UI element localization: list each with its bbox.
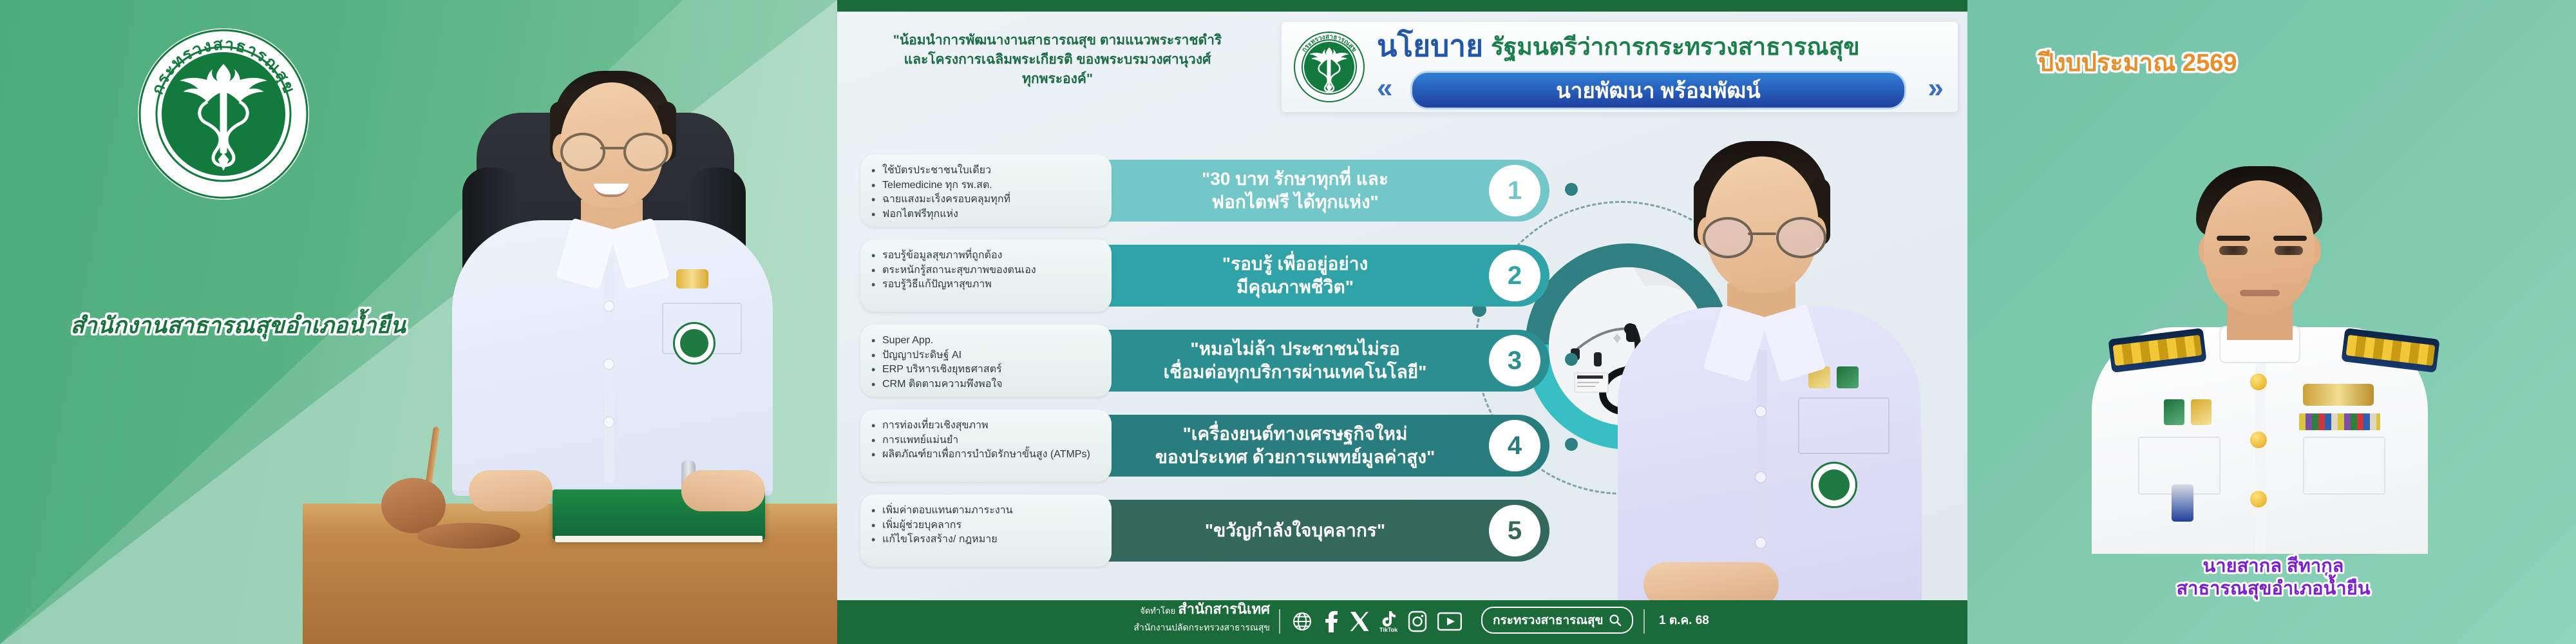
hand-right bbox=[681, 470, 765, 511]
x-twitter-icon[interactable] bbox=[1350, 611, 1369, 632]
footer-divider bbox=[1279, 609, 1280, 634]
chevron-left-icon: « bbox=[1377, 73, 1392, 103]
policy-poster: "น้อมนำการพัฒนางานสาธารณสุข ตามแนวพระราช… bbox=[837, 0, 1967, 644]
connector-node bbox=[1565, 438, 1578, 451]
eyeglasses-icon bbox=[1700, 217, 1826, 253]
policy-number-badge: 4 bbox=[1489, 420, 1540, 471]
publish-date: 1 ต.ค. 68 bbox=[1659, 611, 1709, 630]
tiktok-label: TikTok bbox=[1379, 627, 1397, 633]
policy-bullets-box: Super App. ปัญญาประดิษฐ์ AI ERP บริหารเช… bbox=[860, 325, 1112, 397]
policy-bullet: Telemedicine ทุก รพ.สต. bbox=[882, 178, 1104, 193]
officer-photo bbox=[2067, 97, 2460, 554]
policy-bullet: ผลิตภัณฑ์ยาเพื่อการบำบัดรักษาขั้นสูง (AT… bbox=[882, 448, 1104, 462]
policy-bullet: การท่องเที่ยวเชิงสุขภาพ bbox=[882, 419, 1104, 433]
produced-by-prefix: จัดทำโดย bbox=[1140, 606, 1175, 616]
minister-name-row: « นายพัฒนา พร้อมพัฒน์ » bbox=[1377, 71, 1944, 107]
policy-number-badge: 1 bbox=[1489, 165, 1540, 216]
footer-divider-2 bbox=[1643, 609, 1645, 634]
youtube-icon[interactable] bbox=[1437, 612, 1462, 631]
policy-number: 1 bbox=[1508, 176, 1522, 205]
policy-number: 4 bbox=[1508, 431, 1522, 460]
shirt-button bbox=[1756, 406, 1766, 417]
policy-row: "ขวัญกำลังใจบุคลากร" 5 เพิ่มค่าตอบแทนตาม… bbox=[860, 495, 1549, 567]
hand-left bbox=[469, 470, 553, 511]
service-ribbons bbox=[2299, 413, 2380, 430]
shirt-button bbox=[604, 301, 614, 311]
shirt-pocket bbox=[1798, 397, 1889, 454]
fiscal-year-label: ปีงบประมาณ 2569 bbox=[2038, 43, 2425, 82]
tiktok-icon[interactable]: TikTok bbox=[1379, 611, 1397, 633]
policy-bullet: เพิ่มค่าตอบแทนตามภาระงาน bbox=[882, 504, 1104, 518]
policy-row: "หมอไม่ล้า ประชาชนไม่รอ เชื่อมต่อทุกบริก… bbox=[860, 325, 1549, 397]
policy-bullet: CRM ติดตามความพึงพอใจ bbox=[882, 377, 1104, 392]
shirt-placket bbox=[604, 258, 614, 483]
eyebrow-right bbox=[2273, 236, 2307, 241]
minister-name-pill: นายพัฒนา พร้อมพัฒน์ bbox=[1410, 71, 1906, 109]
policy-quote-band: "เครื่องยนต์ทางเศรษฐกิจใหม่ ของประเทศ ด้… bbox=[1073, 415, 1549, 477]
policy-quote-line: เชื่อมต่อทุกบริการผ่านเทคโนโลยี" bbox=[1144, 361, 1446, 384]
title-policy-word: นโยบาย bbox=[1377, 29, 1483, 62]
policy-quote: "ขวัญกำลังใจบุคลากร" bbox=[1144, 519, 1446, 542]
uniform-button bbox=[2250, 374, 2267, 390]
social-links-row: TikTok bbox=[1292, 608, 1462, 635]
policy-quote: "รอบรู้ เพื่ออยู่อย่าง มีคุณภาพชีวิต" bbox=[1144, 252, 1446, 299]
clay-pot bbox=[381, 478, 446, 533]
left-panel: กระทรวงสาธารณสุข MINISTRY OF PUBLIC HEAL… bbox=[0, 0, 837, 644]
connector-node bbox=[1565, 183, 1578, 196]
officer-caption: นายสากล สีทากูล สาธารณสุขอำเภอน้ำยืน bbox=[2029, 555, 2518, 600]
moph-chest-emblem-icon bbox=[1811, 462, 1857, 508]
uniform-button bbox=[2250, 491, 2267, 507]
shirt-button bbox=[1756, 538, 1766, 548]
right-panel: ปีงบประมาณ 2569 bbox=[1967, 0, 2576, 644]
policy-quote-band: "ขวัญกำลังใจบุคลากร" 5 bbox=[1073, 500, 1549, 562]
policy-quote-line: "ขวัญกำลังใจบุคลากร" bbox=[1144, 519, 1446, 542]
policy-bullet: ปัญญาประดิษฐ์ AI bbox=[882, 348, 1104, 363]
lens-left bbox=[560, 133, 605, 171]
shirt-button bbox=[604, 359, 614, 369]
policy-bullet: ฟอกไตฟรีทุกแห่ง bbox=[882, 207, 1104, 222]
lens-left bbox=[1703, 217, 1753, 258]
instagram-icon[interactable] bbox=[1408, 611, 1427, 632]
policy-quote-line: "30 บาท รักษาทุกที่ และ bbox=[1144, 167, 1446, 191]
policy-number-badge: 5 bbox=[1489, 505, 1540, 556]
policy-number: 3 bbox=[1508, 346, 1522, 375]
shirt bbox=[1618, 307, 1920, 602]
policy-number-badge: 3 bbox=[1489, 335, 1540, 386]
executive-photo bbox=[303, 45, 837, 644]
shirt-button bbox=[604, 417, 614, 427]
policy-bullet: ใช้บัตรประชาชนใบเดียว bbox=[882, 164, 1104, 178]
policy-bullet: การแพทย์แม่นยำ bbox=[882, 433, 1104, 448]
moph-seal-small-icon: กระทรวงสาธารณสุข MINISTRY OF PUBLIC HEAL… bbox=[1293, 31, 1365, 103]
policy-quote-band: "30 บาท รักษาทุกที่ และ ฟอกไตฟรี ได้ทุกแ… bbox=[1073, 160, 1549, 222]
policy-row: "รอบรู้ เพื่ออยู่อย่าง มีคุณภาพชีวิต" 2 … bbox=[860, 240, 1549, 312]
lens-right bbox=[1776, 217, 1826, 258]
royal-initiative-quote: "น้อมนำการพัฒนางานสาธารณสุข ตามแนวพระราช… bbox=[851, 31, 1264, 88]
policy-number: 5 bbox=[1508, 516, 1522, 545]
shirt-placket bbox=[1757, 350, 1767, 562]
policy-quote-band: "หมอไม่ล้า ประชาชนไม่รอ เชื่อมต่อทุกบริก… bbox=[1073, 330, 1549, 392]
search-icon bbox=[1609, 614, 1622, 627]
officer-name: นายสากล สีทากูล bbox=[2029, 555, 2518, 578]
policy-quote-line: ของประเทศ ด้วยการแพทย์มูลค่าสูง" bbox=[1144, 446, 1446, 469]
lens-right bbox=[623, 133, 668, 171]
title-subject: รัฐมนตรีว่าการกระทรวงสาธารณสุข bbox=[1491, 33, 1860, 60]
shirt-button bbox=[1756, 472, 1766, 482]
gold-insignia bbox=[676, 269, 708, 289]
search-pill[interactable]: กระทรวงสาธารณสุข bbox=[1481, 607, 1633, 634]
policy-bullets-box: ใช้บัตรประชาชนใบเดียว Telemedicine ทุก ร… bbox=[860, 155, 1112, 227]
policy-quote-line: "หมอไม่ล้า ประชาชนไม่รอ bbox=[1144, 337, 1446, 361]
policy-number: 2 bbox=[1508, 261, 1522, 290]
search-keyword: กระทรวงสาธารณสุข bbox=[1493, 611, 1604, 630]
policy-quote: "หมอไม่ล้า ประชาชนไม่รอ เชื่อมต่อทุกบริก… bbox=[1144, 337, 1446, 384]
clasped-hands bbox=[1643, 562, 1779, 602]
policy-quote-line: "เครื่องยนต์ทางเศรษฐกิจใหม่ bbox=[1144, 422, 1446, 446]
policy-quote-band: "รอบรู้ เพื่ออยู่อย่าง มีคุณภาพชีวิต" 2 bbox=[1073, 245, 1549, 307]
policy-bullet: ERP บริหารเชิงยุทธศาสตร์ bbox=[882, 363, 1104, 377]
quote-line: ทุกพระองค์" bbox=[851, 70, 1264, 89]
footer-credit: จัดทำโดยสำนักสารนิเทศ สำนักงานปลัดกระทรว… bbox=[1064, 598, 1270, 635]
badge-gold bbox=[2191, 399, 2211, 425]
title-block: กระทรวงสาธารณสุข MINISTRY OF PUBLIC HEAL… bbox=[1282, 22, 1958, 112]
connector-node bbox=[1565, 268, 1578, 281]
quote-line: และโครงการเฉลิมพระเกียรติ ของพระบรมวงศาน… bbox=[851, 50, 1264, 70]
policy-bullet: รอบรู้ข้อมูลสุขภาพที่ถูกต้อง bbox=[882, 249, 1104, 263]
policy-quote: "30 บาท รักษาทุกที่ และ ฟอกไตฟรี ได้ทุกแ… bbox=[1144, 167, 1446, 214]
policy-quote-line: "รอบรู้ เพื่ออยู่อย่าง bbox=[1144, 252, 1446, 276]
uniform-button bbox=[2250, 431, 2267, 448]
minister-photo bbox=[1584, 119, 1967, 602]
wooden-tray bbox=[417, 523, 520, 549]
glasses-bridge bbox=[600, 147, 625, 149]
connector-node bbox=[1565, 353, 1578, 366]
footer-credit-line1: จัดทำโดยสำนักสารนิเทศ bbox=[1064, 598, 1270, 620]
policy-quote-line: ฟอกไตฟรี ได้ทุกแห่ง" bbox=[1144, 191, 1446, 214]
policy-number-badge: 2 bbox=[1489, 250, 1540, 301]
uniform-pocket-right bbox=[2303, 437, 2385, 495]
policy-bullet: ตระหนักรู้สถานะสุขภาพของตนเอง bbox=[882, 263, 1104, 278]
policy-bullets-box: เพิ่มค่าตอบแทนตามภาระงาน เพิ่มผู้ช่วยบุค… bbox=[860, 495, 1112, 567]
poster-footer: จัดทำโดยสำนักสารนิเทศ สำนักงานปลัดกระทรว… bbox=[837, 600, 1967, 644]
glasses-bridge bbox=[1748, 232, 1776, 235]
policy-quote-line: มีคุณภาพชีวิต" bbox=[1144, 276, 1446, 299]
minister-name: นายพัฒนา พร้อมพัฒน์ bbox=[1556, 73, 1760, 108]
policy-row: "30 บาท รักษาทุกที่ และ ฟอกไตฟรี ได้ทุกแ… bbox=[860, 155, 1549, 227]
eyeglasses-icon bbox=[555, 133, 670, 166]
mouth bbox=[2240, 290, 2280, 296]
wing-insignia bbox=[2303, 384, 2374, 406]
policy-bullet: แก้ไขโครงสร้าง/ กฎหมาย bbox=[882, 533, 1104, 547]
policy-bullets-box: การท่องเที่ยวเชิงสุขภาพ การแพทย์แม่นยำ ผ… bbox=[860, 410, 1112, 482]
moph-seal-icon: กระทรวงสาธารณสุข MINISTRY OF PUBLIC HEAL… bbox=[137, 27, 310, 201]
eye-left bbox=[2219, 246, 2248, 255]
policy-bullet: เพิ่มผู้ช่วยบุคลากร bbox=[882, 518, 1104, 533]
eye-right bbox=[2275, 246, 2303, 255]
policy-bullet: รอบรู้วิธีแก้ปัญหาสุขภาพ bbox=[882, 278, 1104, 292]
policy-bullet: ฉายแสงมะเร็งครอบคลุมทุกที่ bbox=[882, 193, 1104, 207]
policy-bullets-box: รอบรู้ข้อมูลสุขภาพที่ถูกต้อง ตระหนักรู้ส… bbox=[860, 240, 1112, 312]
banner-root: กระทรวงสาธารณสุข MINISTRY OF PUBLIC HEAL… bbox=[0, 0, 2576, 644]
footer-credit-line2: สำนักงานปลัดกระทรวงสาธารณสุข bbox=[1064, 621, 1270, 635]
poster-top-bar bbox=[837, 0, 1967, 12]
policy-bullet: Super App. bbox=[882, 334, 1104, 348]
green-insignia bbox=[1837, 366, 1859, 388]
facebook-icon[interactable] bbox=[1323, 611, 1340, 632]
globe-icon[interactable] bbox=[1292, 611, 1312, 632]
produced-by-org: สำนักสารนิเทศ bbox=[1178, 601, 1270, 617]
lapel-pin bbox=[2172, 484, 2193, 522]
officer-title: สาธารณสุขอำเภอน้ำยืน bbox=[2029, 578, 2518, 600]
eyebrow-left bbox=[2217, 236, 2250, 241]
moph-chest-emblem-icon bbox=[673, 322, 715, 365]
policy-quote: "เครื่องยนต์ทางเศรษฐกิจใหม่ ของประเทศ ด้… bbox=[1144, 422, 1446, 469]
quote-line: "น้อมนำการพัฒนางานสาธารณสุข ตามแนวพระราช… bbox=[851, 31, 1264, 50]
policy-row: "เครื่องยนต์ทางเศรษฐกิจใหม่ ของประเทศ ด้… bbox=[860, 410, 1549, 482]
chevron-right-icon: » bbox=[1928, 73, 1944, 103]
badge-green bbox=[2164, 399, 2184, 425]
title-line: นโยบาย รัฐมนตรีว่าการกระทรวงสาธารณสุข bbox=[1377, 31, 1944, 61]
folder-pages bbox=[555, 536, 762, 542]
